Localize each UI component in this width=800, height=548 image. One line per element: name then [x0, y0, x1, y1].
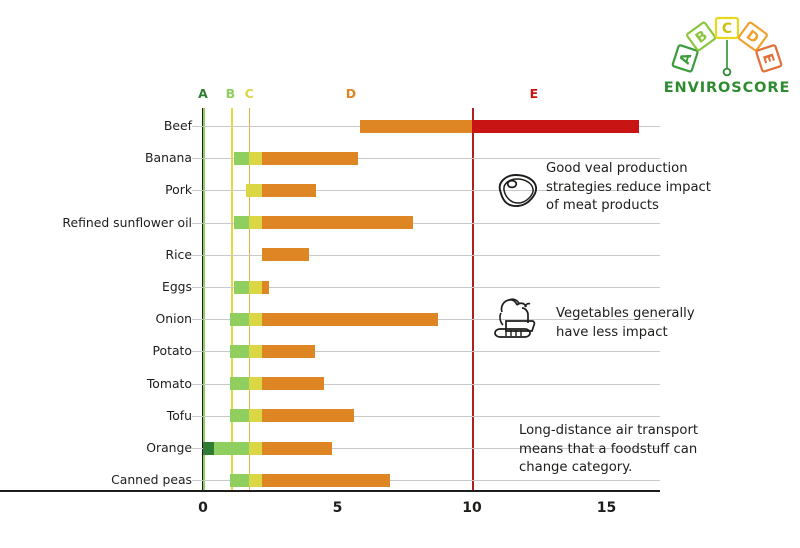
- chart-page: A B C D E E: [0, 0, 800, 548]
- bar-segment-c: [246, 184, 262, 197]
- annotation-meat-text: Good veal production strategies reduce i…: [546, 160, 746, 216]
- x-axis-label: 0: [183, 500, 223, 516]
- bar-segment-b: [230, 474, 249, 487]
- bar-refined-sunflower-oil: [0, 216, 800, 229]
- threshold-line-e: [472, 108, 474, 490]
- bar-segment-d: [262, 216, 413, 229]
- annotation-meat: Good veal production strategies reduce i…: [546, 160, 746, 216]
- bar-segment-b: [230, 409, 249, 422]
- bar-segment-b: [214, 442, 249, 455]
- bar-tofu: [0, 409, 800, 422]
- bar-segment-d: [262, 152, 357, 165]
- annotation-transport-text: Long-distance air transport means that a…: [519, 422, 731, 478]
- bar-segment-b: [234, 281, 249, 294]
- bar-segment-d: [262, 377, 324, 390]
- bar-segment-c: [249, 474, 262, 487]
- vegetable-basket-icon: [492, 296, 544, 340]
- grade-letter-a: A: [191, 86, 215, 101]
- bar-segment-c: [249, 152, 262, 165]
- bar-beef: [0, 120, 800, 133]
- bar-rice: [0, 248, 800, 261]
- x-axis-label: 5: [318, 500, 358, 516]
- bar-segment-c: [249, 442, 262, 455]
- bar-tomato: [0, 377, 800, 390]
- bar-segment-c: [249, 377, 262, 390]
- grade-letter-d: D: [339, 86, 363, 101]
- annotation-transport: Long-distance air transport means that a…: [519, 422, 731, 478]
- bar-segment-d: [360, 120, 472, 133]
- bar-segment-d: [262, 474, 390, 487]
- bar-segment-c: [249, 216, 262, 229]
- annotation-vegetables-text: Vegetables generally have less impact: [556, 305, 756, 342]
- bar-segment-d: [262, 248, 309, 261]
- bar-segment-b: [230, 345, 249, 358]
- bar-segment-a: [203, 442, 214, 455]
- bar-segment-c: [249, 281, 262, 294]
- bar-segment-d: [262, 442, 332, 455]
- bar-eggs: [0, 281, 800, 294]
- bar-segment-d: [262, 345, 314, 358]
- threshold-line-a: [203, 108, 205, 490]
- x-axis-label: 10: [452, 500, 492, 516]
- threshold-line-c2: [249, 108, 251, 490]
- bar-segment-d: [262, 313, 438, 326]
- bar-segment-d: [262, 281, 269, 294]
- annotation-vegetables: Vegetables generally have less impact: [556, 305, 756, 342]
- bar-segment-b: [230, 377, 249, 390]
- steak-icon: [492, 172, 538, 208]
- bar-segment-e: [472, 120, 639, 133]
- bar-segment-b: [234, 216, 249, 229]
- bar-segment-d: [262, 409, 353, 422]
- x-axis-label: 15: [587, 500, 627, 516]
- bar-segment-c: [249, 313, 262, 326]
- bar-segment-b: [230, 313, 249, 326]
- bar-potato: [0, 345, 800, 358]
- bar-segment-d: [262, 184, 316, 197]
- bar-segment-c: [249, 345, 262, 358]
- grade-letter-e: E: [522, 86, 546, 101]
- grade-letter-c: C: [237, 86, 261, 101]
- bar-segment-c: [249, 409, 262, 422]
- threshold-line-c: [231, 108, 233, 490]
- bar-segment-b: [234, 152, 249, 165]
